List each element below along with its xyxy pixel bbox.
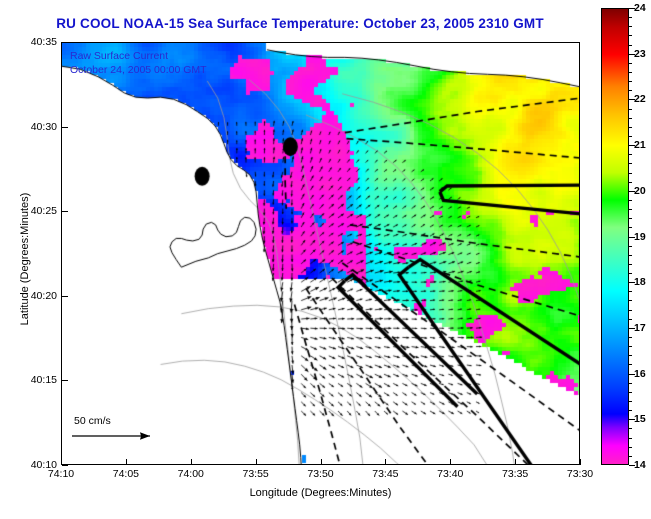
colorbar-minor-tick (629, 35, 632, 36)
colorbar-minor-tick (629, 182, 632, 183)
colorbar-minor-tick (629, 346, 632, 347)
colorbar-minor-tick (629, 163, 632, 164)
colorbar-tick-label: 21 (634, 139, 646, 151)
colorbar-minor-tick (629, 337, 632, 338)
colorbar-minor-tick (629, 319, 632, 320)
colorbar-minor-tick (629, 81, 632, 82)
y-tick-label: 40:30 (31, 121, 57, 133)
colorbar-minor-tick (629, 300, 632, 301)
colorbar-minor-tick (629, 255, 632, 256)
colorbar-minor-tick (629, 127, 632, 128)
colorbar-minor-tick (629, 227, 632, 228)
x-tick (191, 459, 192, 465)
page-title: RU COOL NOAA-15 Sea Surface Temperature:… (0, 16, 600, 31)
x-tick-label: 73:30 (567, 468, 593, 480)
colorbar-minor-tick (629, 118, 632, 119)
colorbar-minor-tick (629, 72, 632, 73)
colorbar-minor-tick (629, 45, 632, 46)
colorbar-minor-tick (629, 392, 632, 393)
y-tick (62, 42, 68, 43)
y-tick (62, 211, 68, 212)
x-axis-label: Longitude (Degrees:Minutes) (61, 487, 580, 499)
x-tick (385, 459, 386, 465)
x-tick-label: 74:00 (178, 468, 204, 480)
colorbar-minor-tick (629, 428, 632, 429)
colorbar-minor-tick (629, 447, 632, 448)
velocity-scale-arrow-icon (68, 427, 178, 445)
x-tick-label: 73:55 (242, 468, 268, 480)
colorbar-minor-tick (629, 136, 632, 137)
colorbar-minor-tick (629, 63, 632, 64)
colorbar-tick-label: 24 (634, 2, 646, 14)
colorbar-tick-label: 14 (634, 459, 646, 471)
velocity-scale-label: 50 cm/s (74, 415, 178, 427)
x-tick (580, 459, 581, 465)
colorbar-minor-tick (629, 109, 632, 110)
map-overlay-canvas (62, 43, 580, 465)
y-tick (62, 465, 68, 466)
x-tick-label: 73:40 (437, 468, 463, 480)
colorbar-minor-tick (629, 154, 632, 155)
x-tick (515, 459, 516, 465)
y-tick-label: 40:35 (31, 36, 57, 48)
colorbar-minor-tick (629, 26, 632, 27)
colorbar (601, 8, 629, 465)
colorbar-minor-tick (629, 200, 632, 201)
colorbar-gradient (602, 9, 628, 464)
y-tick (62, 296, 68, 297)
colorbar-minor-tick (629, 410, 632, 411)
colorbar-tick-label: 22 (634, 93, 646, 105)
colorbar-minor-tick (629, 383, 632, 384)
y-tick-label: 40:25 (31, 205, 57, 217)
y-tick (62, 380, 68, 381)
velocity-scale-bar: 50 cm/s (68, 415, 178, 450)
colorbar-minor-tick (629, 401, 632, 402)
colorbar-minor-tick (629, 310, 632, 311)
x-tick-label: 73:35 (502, 468, 528, 480)
x-tick-label: 73:50 (307, 468, 333, 480)
colorbar-tick-label: 16 (634, 368, 646, 380)
x-tick (126, 459, 127, 465)
colorbar-minor-tick (629, 209, 632, 210)
colorbar-tick-label: 20 (634, 185, 646, 197)
map-plot-area[interactable]: Raw Surface Current October 24, 2005 00:… (61, 42, 580, 465)
colorbar-minor-tick (629, 291, 632, 292)
x-tick-label: 73:45 (372, 468, 398, 480)
colorbar-minor-tick (629, 17, 632, 18)
colorbar-tick-label: 17 (634, 322, 646, 334)
x-tick (321, 459, 322, 465)
y-tick-label: 40:20 (31, 290, 57, 302)
colorbar-minor-tick (629, 273, 632, 274)
colorbar-minor-tick (629, 264, 632, 265)
x-tick (256, 459, 257, 465)
y-tick (62, 127, 68, 128)
colorbar-tick-label: 23 (634, 48, 646, 60)
colorbar-minor-tick (629, 364, 632, 365)
colorbar-minor-tick (629, 173, 632, 174)
y-tick-label: 40:15 (31, 374, 57, 386)
colorbar-minor-tick (629, 90, 632, 91)
colorbar-minor-tick (629, 218, 632, 219)
colorbar-tick-label: 15 (634, 413, 646, 425)
colorbar-minor-tick (629, 456, 632, 457)
x-tick (450, 459, 451, 465)
colorbar-minor-tick (629, 246, 632, 247)
colorbar-tick-label: 18 (634, 276, 646, 288)
y-tick-label: 40:10 (31, 459, 57, 471)
y-axis-label: Latitude (Degrees:Minutes) (19, 149, 31, 369)
x-tick-label: 74:05 (113, 468, 139, 480)
colorbar-tick-label: 19 (634, 231, 646, 243)
colorbar-minor-tick (629, 438, 632, 439)
colorbar-minor-tick (629, 355, 632, 356)
